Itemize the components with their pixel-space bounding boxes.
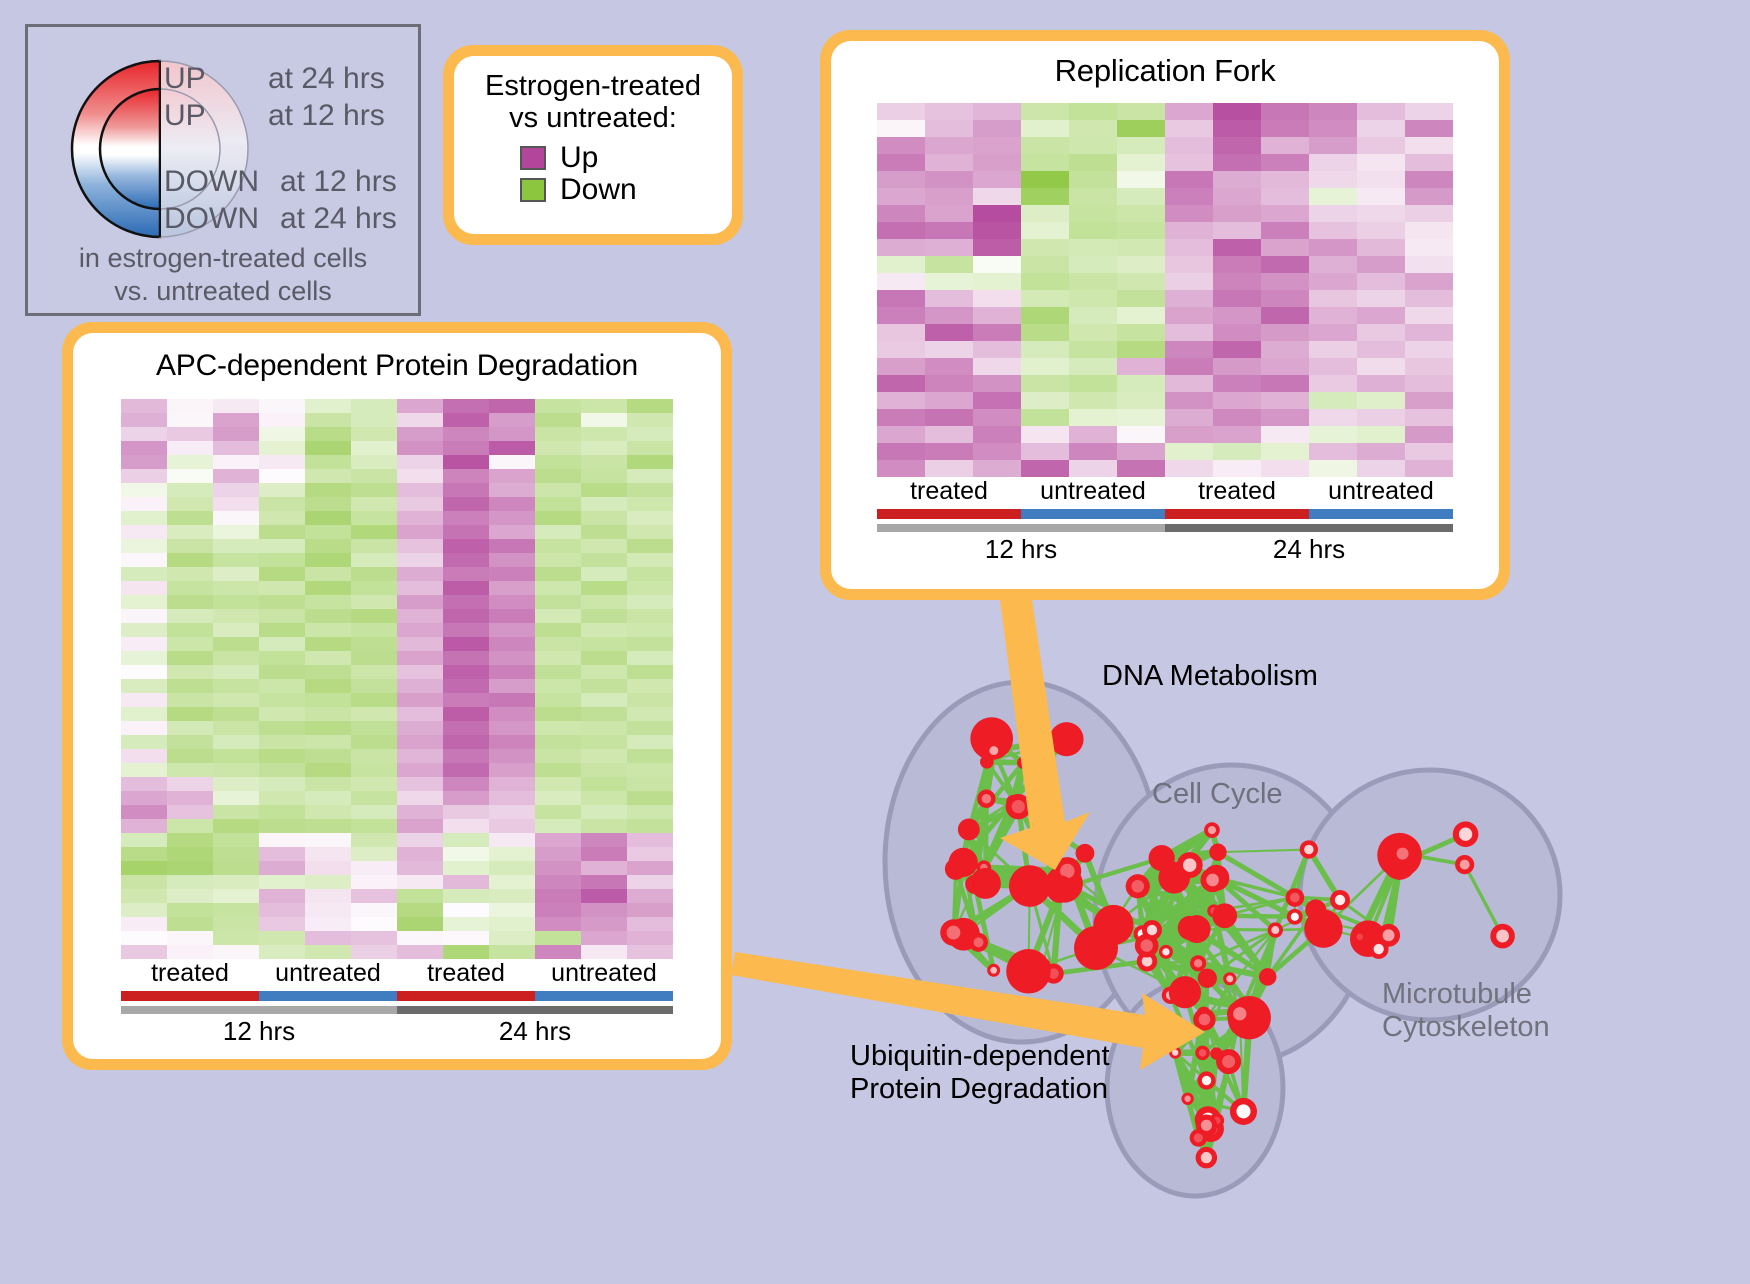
heatmap-cell [259, 483, 305, 497]
network-node[interactable] [940, 919, 967, 946]
network-node[interactable] [1330, 890, 1350, 910]
heatmap-cell [259, 553, 305, 567]
network-node[interactable] [1377, 924, 1400, 947]
heatmap-cell [1261, 392, 1309, 409]
heatmap-cell [213, 875, 259, 889]
heatmap-cell [1261, 341, 1309, 358]
heatmap-cell [1069, 188, 1117, 205]
network-node[interactable] [1212, 903, 1237, 928]
heatmap-cell [213, 833, 259, 847]
heatmap-cell [351, 833, 397, 847]
heatmap-cell [973, 290, 1021, 307]
axis-group-bar [535, 991, 673, 1001]
heatmap-cell [877, 205, 925, 222]
heatmap-cell [397, 861, 443, 875]
heatmap-cell [1357, 426, 1405, 443]
heatmap-cell [213, 847, 259, 861]
network-node[interactable] [1287, 909, 1303, 925]
network-node[interactable] [1017, 757, 1029, 769]
heatmap-cell [489, 511, 535, 525]
heatmap-cell [627, 735, 673, 749]
heatmap-cell [581, 847, 627, 861]
heatmap-cell [973, 154, 1021, 171]
heatmap-cell [305, 441, 351, 455]
heatmap-cell [443, 427, 489, 441]
heatmap-cell [489, 791, 535, 805]
heatmap-cell [1165, 103, 1213, 120]
heatmap-cell [1117, 324, 1165, 341]
heatmap-cell [305, 553, 351, 567]
heatmap-cell [167, 777, 213, 791]
heatmap-cell [627, 455, 673, 469]
heatmap-cell [1309, 358, 1357, 375]
heatmap-cell [1261, 239, 1309, 256]
heatmap-cell [397, 833, 443, 847]
heatmap-cell [443, 483, 489, 497]
heatmap-cell [489, 763, 535, 777]
heatmap-cell [535, 441, 581, 455]
heatmap-cell [1261, 290, 1309, 307]
heatmap-cell [167, 721, 213, 735]
heatmap-cell [397, 483, 443, 497]
heatmap-cell [167, 833, 213, 847]
heatmap-cell [627, 497, 673, 511]
heatmap-cell [581, 777, 627, 791]
heatmap-cell [259, 651, 305, 665]
heatmap-cell [489, 679, 535, 693]
heatmap-cell [167, 693, 213, 707]
heatmap-cell [213, 777, 259, 791]
heatmap-cell [627, 819, 673, 833]
heatmap-cell [1405, 324, 1453, 341]
axis-time-label: 12 hrs [121, 1014, 397, 1047]
heatmap-cell [167, 819, 213, 833]
heatmap-cell [121, 567, 167, 581]
heatmap-cell [1213, 324, 1261, 341]
heatmap-cell [121, 847, 167, 861]
heatmap-cell [305, 861, 351, 875]
network-node[interactable] [1455, 855, 1474, 874]
heatmap-cell [973, 375, 1021, 392]
heatmap-cell [213, 413, 259, 427]
heatmap-cell [213, 721, 259, 735]
heatmap-cell [627, 623, 673, 637]
network-node[interactable] [1227, 1001, 1253, 1027]
heatmap-cell [259, 945, 305, 959]
heatmap-cell [351, 805, 397, 819]
network-node[interactable] [1268, 922, 1283, 937]
heatmap-cell [443, 861, 489, 875]
heatmap-cell [489, 945, 535, 959]
heatmap-cell [1309, 290, 1357, 307]
legend-title: Estrogen-treated vs untreated: [464, 70, 722, 135]
heatmap-cell [1309, 392, 1357, 409]
heatmap-cell [167, 525, 213, 539]
heatmap-cell [1069, 324, 1117, 341]
network-node[interactable] [1190, 955, 1206, 971]
network-node[interactable] [1286, 888, 1305, 907]
heatmap-cell [1309, 239, 1357, 256]
heatmap-cell [489, 595, 535, 609]
axis-group-label: treated [397, 959, 535, 991]
heatmap-cell [1117, 171, 1165, 188]
heatmap-cell [1069, 290, 1117, 307]
heatmap-cell [351, 679, 397, 693]
apc-time-bar [121, 1006, 673, 1014]
heatmap-cell [1165, 137, 1213, 154]
heatmap-cell [121, 819, 167, 833]
heatmap-cell [259, 609, 305, 623]
network-node[interactable] [1126, 874, 1150, 898]
heatmap-cell [1405, 307, 1453, 324]
heatmap-cell [167, 427, 213, 441]
heatmap-cell [627, 847, 673, 861]
heatmap-cell [305, 903, 351, 917]
network-node[interactable] [1159, 945, 1173, 959]
heatmap-cell [1309, 154, 1357, 171]
heatmap-cell [397, 455, 443, 469]
heatmap-cell [167, 875, 213, 889]
network-node[interactable] [1027, 737, 1041, 751]
heatmap-cell [443, 553, 489, 567]
heatmap-cell [351, 735, 397, 749]
heatmap-cell [925, 307, 973, 324]
heatmap-cell [1213, 460, 1261, 477]
heatmap-cell [443, 651, 489, 665]
network-node[interactable] [958, 818, 980, 840]
network-node[interactable] [1204, 822, 1220, 838]
heatmap-cell [489, 861, 535, 875]
heatmap-cell [259, 805, 305, 819]
network-node[interactable] [1453, 821, 1479, 847]
network-node[interactable] [1050, 722, 1084, 756]
heatmap-cell [489, 623, 535, 637]
heatmap-cell [305, 889, 351, 903]
heatmap-cell [213, 791, 259, 805]
heatmap-cell [351, 819, 397, 833]
heatmap-cell [167, 945, 213, 959]
network-node[interactable] [1169, 976, 1201, 1008]
heatmap-cell [351, 441, 397, 455]
network-node[interactable] [1304, 910, 1342, 948]
heatmap-cell [535, 917, 581, 931]
heatmap-cell [535, 945, 581, 959]
heatmap-cell [489, 651, 535, 665]
heatmap-cell [877, 324, 925, 341]
heatmap-cell [627, 553, 673, 567]
heatmap-cell [973, 443, 1021, 460]
heatmap-cell [535, 637, 581, 651]
heatmap-cell [167, 889, 213, 903]
axis-time-bar [877, 524, 1165, 532]
heatmap-cell [1213, 188, 1261, 205]
heatmap-cell [167, 707, 213, 721]
heatmap-cell [167, 637, 213, 651]
heatmap-cell [397, 777, 443, 791]
heatmap-cell [259, 637, 305, 651]
heatmap-cell [535, 581, 581, 595]
heatmap-cell [121, 553, 167, 567]
heatmap-cell [877, 375, 925, 392]
heatmap-cell [973, 426, 1021, 443]
heatmap-cell [877, 137, 925, 154]
network-node[interactable] [987, 964, 1000, 977]
network-node[interactable] [1300, 840, 1318, 858]
heatmap-cell [167, 861, 213, 875]
heatmap-cell [305, 931, 351, 945]
heatmap-cell [627, 567, 673, 581]
heatmap-cell [627, 749, 673, 763]
heatmap-cell [973, 137, 1021, 154]
heatmap-cell [1357, 460, 1405, 477]
heatmap-cell [1261, 273, 1309, 290]
heatmap-cell [213, 595, 259, 609]
heatmap-cell [1213, 443, 1261, 460]
heatmap-cell [167, 735, 213, 749]
heatmap-cell [581, 889, 627, 903]
heatmap-cell [535, 553, 581, 567]
heatmap-cell [397, 721, 443, 735]
network-node[interactable] [1200, 868, 1224, 892]
heatmap-cell [121, 861, 167, 875]
heatmap-cell [213, 749, 259, 763]
heatmap-cell [1309, 307, 1357, 324]
heatmap-cell [1357, 392, 1405, 409]
heatmap-cell [1069, 375, 1117, 392]
heatmap-cell [581, 861, 627, 875]
heatmap-cell [305, 707, 351, 721]
heatmap-cell [259, 777, 305, 791]
network-node[interactable] [1490, 924, 1515, 949]
heatmap-cell [1069, 222, 1117, 239]
heatmap-cell [1165, 154, 1213, 171]
heatmap-cell [973, 460, 1021, 477]
heatmap-cell [397, 917, 443, 931]
network-node[interactable] [1209, 844, 1226, 861]
heatmap-cell [489, 721, 535, 735]
heatmap-cell [305, 651, 351, 665]
heatmap-cell [397, 847, 443, 861]
heatmap-cell [581, 511, 627, 525]
heatmap-cell [351, 931, 397, 945]
heatmap-cell [627, 931, 673, 945]
network-node[interactable] [1195, 1046, 1209, 1060]
heatmap-cell [213, 693, 259, 707]
heatmap-cell [397, 665, 443, 679]
heatmap-cell [213, 819, 259, 833]
heatmap-cell [305, 483, 351, 497]
heatmap-cell [397, 889, 443, 903]
heatmap-cell [443, 819, 489, 833]
heatmap-cell [877, 409, 925, 426]
network-node[interactable] [1006, 794, 1031, 819]
network-node[interactable] [1076, 844, 1095, 863]
heatmap-cell [305, 455, 351, 469]
heatmap-cell [581, 553, 627, 567]
heatmap-cell [443, 581, 489, 595]
replication-fork-treatment-bar [877, 509, 1453, 519]
heatmap-cell [305, 791, 351, 805]
heatmap-cell [581, 441, 627, 455]
heatmap-cell [581, 581, 627, 595]
heatmap-cell [925, 358, 973, 375]
heatmap-cell [877, 120, 925, 137]
heatmap-cell [1165, 443, 1213, 460]
heatmap-cell [581, 833, 627, 847]
network-node[interactable] [1230, 1098, 1257, 1125]
heatmap-cell [167, 413, 213, 427]
heatmap-cell [305, 511, 351, 525]
heatmap-cell [925, 392, 973, 409]
key-inner-down-label: DOWN [164, 165, 259, 199]
heatmap-cell [397, 553, 443, 567]
heatmap-cell [443, 413, 489, 427]
network-node[interactable] [980, 755, 994, 769]
heatmap-cell [351, 623, 397, 637]
network-node[interactable] [1006, 949, 1051, 994]
heatmap-cell [351, 595, 397, 609]
heatmap-cell [167, 609, 213, 623]
apc-protein-degradation-panel: APC-dependent Protein Degradation treate… [62, 322, 732, 1070]
heatmap-cell [259, 889, 305, 903]
axis-group-bar [259, 991, 397, 1001]
heatmap-cell [1021, 460, 1069, 477]
network-node[interactable] [1142, 920, 1162, 940]
heatmap-cell [259, 427, 305, 441]
network-node[interactable] [1259, 968, 1276, 985]
heatmap-cell [305, 399, 351, 413]
heatmap-cell [489, 413, 535, 427]
heatmap-cell [535, 665, 581, 679]
network-node[interactable] [1391, 842, 1414, 865]
network-node[interactable] [1178, 916, 1202, 940]
network-node[interactable] [1198, 969, 1217, 988]
network-node[interactable] [1169, 1047, 1181, 1059]
heatmap-cell [351, 847, 397, 861]
heatmap-cell [1165, 307, 1213, 324]
heatmap-cell [213, 427, 259, 441]
network-node[interactable] [1216, 1049, 1241, 1074]
heatmap-cell [397, 651, 443, 665]
heatmap-cell [581, 763, 627, 777]
heatmap-cell [627, 945, 673, 959]
heatmap-cell [259, 917, 305, 931]
heatmap-cell [305, 595, 351, 609]
heatmap-cell [1069, 307, 1117, 324]
heatmap-cell [1357, 256, 1405, 273]
heatmap-cell [259, 623, 305, 637]
heatmap-cell [121, 637, 167, 651]
network-node[interactable] [1009, 865, 1051, 907]
network-node[interactable] [1354, 931, 1366, 943]
network-node[interactable] [1193, 1008, 1215, 1030]
heatmap-cell [259, 903, 305, 917]
heatmap-cell [1069, 341, 1117, 358]
heatmap-cell [121, 623, 167, 637]
heatmap-cell [1213, 341, 1261, 358]
heatmap-cell [627, 721, 673, 735]
heatmap-cell [925, 205, 973, 222]
heatmap-cell [443, 721, 489, 735]
heatmap-cell [351, 777, 397, 791]
heatmap-cell [213, 805, 259, 819]
heatmap-cell [443, 441, 489, 455]
heatmap-cell [1117, 273, 1165, 290]
heatmap-cell [627, 441, 673, 455]
heatmap-cell [877, 188, 925, 205]
heatmap-cell [259, 581, 305, 595]
heatmap-cell [1117, 222, 1165, 239]
heatmap-cell [351, 903, 397, 917]
network-node[interactable] [969, 933, 988, 952]
network-node[interactable] [1196, 1115, 1218, 1137]
heatmap-cell [1309, 273, 1357, 290]
axis-time-label: 24 hrs [1165, 532, 1453, 565]
heatmap-cell [1021, 409, 1069, 426]
heatmap-cell [925, 443, 973, 460]
network-node[interactable] [970, 868, 1001, 899]
heatmap-cell [1357, 273, 1405, 290]
heatmap-cell [351, 497, 397, 511]
heatmap-cell [351, 399, 397, 413]
network-node[interactable] [1177, 852, 1203, 878]
cluster-label-microtubule-cytoskeleton: Microtubule Cytoskeleton [1382, 978, 1550, 1045]
heatmap-cell [351, 469, 397, 483]
heatmap-cell [489, 805, 535, 819]
heatmap-cell [213, 553, 259, 567]
heatmap-cell [1069, 273, 1117, 290]
heatmap-cell [489, 455, 535, 469]
replication-fork-group-labels: treateduntreatedtreateduntreated [877, 477, 1453, 509]
heatmap-cell [925, 324, 973, 341]
heatmap-cell [581, 413, 627, 427]
heatmap-cell [351, 917, 397, 931]
heatmap-cell [1165, 341, 1213, 358]
network-node[interactable] [1181, 1093, 1193, 1105]
heatmap-cell [581, 735, 627, 749]
axis-time-label: 12 hrs [877, 532, 1165, 565]
heatmap-cell [351, 945, 397, 959]
heatmap-cell [1405, 273, 1453, 290]
heatmap-cell [167, 763, 213, 777]
heatmap-cell [305, 833, 351, 847]
heatmap-cell [973, 307, 1021, 324]
heatmap-cell [581, 623, 627, 637]
heatmap-cell [581, 665, 627, 679]
network-node[interactable] [1074, 926, 1118, 970]
network-node[interactable] [1196, 1147, 1218, 1169]
network-node[interactable] [1223, 972, 1236, 985]
heatmap-cell [397, 805, 443, 819]
heatmap-cell [877, 222, 925, 239]
network-node[interactable] [1197, 1071, 1215, 1089]
heatmap-cell [443, 497, 489, 511]
heatmap-cell [1405, 205, 1453, 222]
heatmap-cell [877, 443, 925, 460]
updown-legend-panel: Estrogen-treated vs untreated: Up Down [443, 45, 743, 245]
network-node[interactable] [945, 858, 967, 880]
heatmap-cell [121, 455, 167, 469]
heatmap-cell [443, 637, 489, 651]
replication-fork-title: Replication Fork [831, 41, 1499, 89]
network-node[interactable] [977, 790, 995, 808]
heatmap-cell [925, 426, 973, 443]
heatmap-cell [167, 931, 213, 945]
heatmap-cell [1213, 154, 1261, 171]
heatmap-cell [973, 409, 1021, 426]
heatmap-cell [1165, 205, 1213, 222]
heatmap-cell [581, 707, 627, 721]
